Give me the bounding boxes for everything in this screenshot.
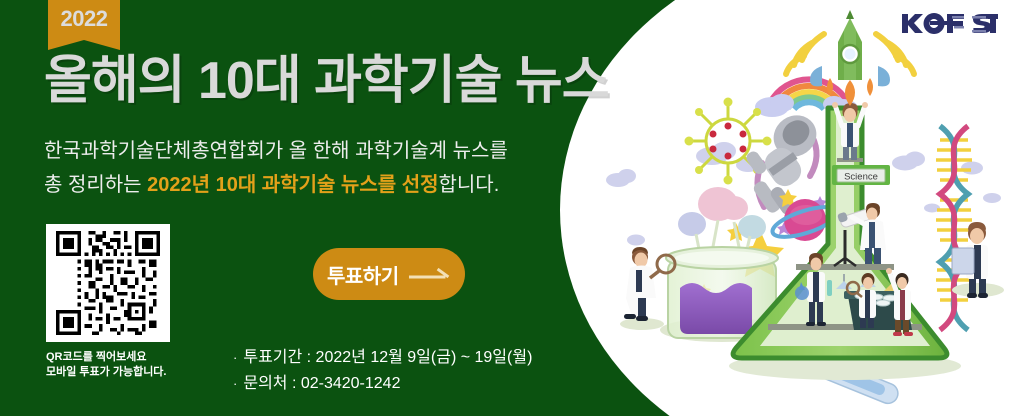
bullet-icon: ·	[233, 371, 237, 397]
qr-code[interactable]	[46, 224, 170, 342]
science-label: Science	[832, 165, 890, 185]
qr-caption-line-1: QR코드를 찍어보세요	[46, 350, 170, 365]
subtitle-line-1: 한국과학기술단체총연합회가 올 한해 과학기술계 뉴스를	[44, 134, 508, 168]
qr-caption-line-2: 모바일 투표가 가능합니다.	[46, 365, 170, 380]
qr-block: QR코드를 찍어보세요 모바일 투표가 가능합니다.	[46, 224, 170, 380]
subtitle-highlight: 2022년 10대 과학기술 뉴스를 선정	[147, 174, 438, 196]
vapor-cloud-group	[678, 187, 766, 254]
arrow-right-icon	[408, 266, 451, 282]
info-row-contact: · 문의처 : 02-3420-1242	[233, 371, 532, 397]
subtitle-block: 한국과학기술단체총연합회가 올 한해 과학기술계 뉴스를 총 정리하는 2022…	[44, 134, 508, 202]
svg-text:Science: Science	[844, 172, 878, 183]
subtitle-line-2-pre: 총 정리하는	[44, 174, 147, 196]
qr-caption: QR코드를 찍어보세요 모바일 투표가 가능합니다.	[46, 350, 170, 380]
vote-button[interactable]: 투표하기	[313, 248, 465, 300]
voting-period-text: 투표기간 : 2022년 12월 9일(금) ~ 19일(월)	[243, 345, 532, 371]
kofst-logo	[900, 10, 998, 38]
year-badge-label: 2022	[61, 8, 108, 30]
subtitle-line-2-post: 합니다.	[439, 174, 500, 196]
shadow	[952, 283, 1004, 297]
vote-button-label: 투표하기	[327, 260, 399, 289]
bullet-icon: ·	[233, 345, 237, 371]
qr-code-image	[53, 231, 163, 335]
info-row-period: · 투표기간 : 2022년 12월 9일(금) ~ 19일(월)	[233, 345, 532, 371]
contact-text: 문의처 : 02-3420-1242	[243, 371, 400, 397]
promo-banner: Science	[0, 0, 1024, 416]
science-lab-illustration: Science	[600, 8, 1024, 408]
dna-helix-icon	[936, 126, 972, 330]
page-title: 올해의 10대 과학기술 뉴스	[44, 52, 609, 112]
info-block: · 투표기간 : 2022년 12월 9일(금) ~ 19일(월) · 문의처 …	[233, 345, 532, 397]
subtitle-line-2: 총 정리하는 2022년 10대 과학기술 뉴스를 선정합니다.	[44, 168, 508, 202]
year-badge: 2022	[48, 0, 120, 50]
